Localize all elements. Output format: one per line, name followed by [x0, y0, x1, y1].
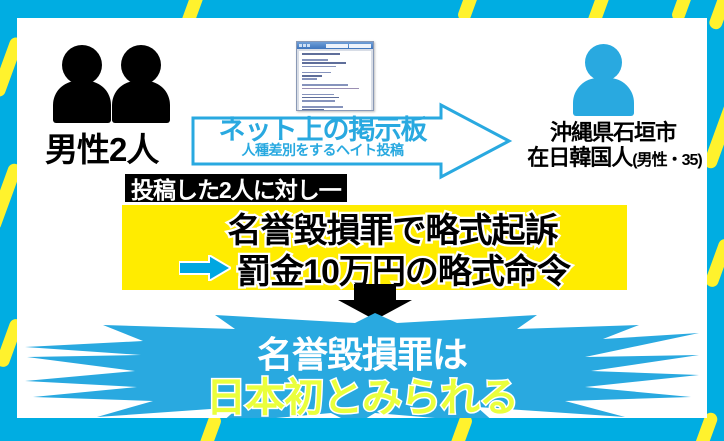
person-body [53, 81, 111, 123]
person-head [585, 44, 622, 81]
person-icon [112, 45, 170, 123]
left-group-label: 男性2人 [45, 123, 158, 171]
infographic-canvas: 男性2人 [0, 0, 724, 441]
conclusion-burst: 名誉毀損罪は 日本初とみられる [25, 313, 699, 418]
bulletin-board-screenshot [296, 41, 374, 111]
right-arrow-cyan-icon [179, 255, 231, 281]
two-people-icon [53, 45, 173, 125]
decor-stripe [708, 0, 724, 31]
person-head [121, 45, 161, 85]
black-banner-text: 投稿した2人に対し一 [131, 171, 341, 205]
source-subline: 人種差別をするヘイト投稿 [205, 140, 440, 160]
verdict-block: 名誉毀損罪で略式起訴 罰金10万円の略式命令 [122, 205, 627, 290]
verdict-row-1: 名誉毀損罪で略式起訴 [122, 206, 645, 248]
target-description-main: 在日韓国人 [527, 145, 632, 170]
person-icon [53, 45, 111, 123]
source-arrow-banner: ネット上の掲示板 人種差別をするヘイト投稿 [191, 102, 513, 180]
target-description-sub: (男性・35) [632, 152, 701, 169]
thumbnail-titlebar [297, 42, 373, 49]
content-panel: 男性2人 [17, 18, 707, 418]
person-body [573, 78, 634, 116]
person-body [112, 81, 170, 123]
black-banner: 投稿した2人に対し一 [125, 174, 347, 202]
target-description: 在日韓国人(男性・35) [512, 140, 707, 172]
person-head [62, 45, 102, 85]
target-person-icon [573, 44, 633, 116]
conclusion-line-2: 日本初とみられる [25, 365, 699, 418]
